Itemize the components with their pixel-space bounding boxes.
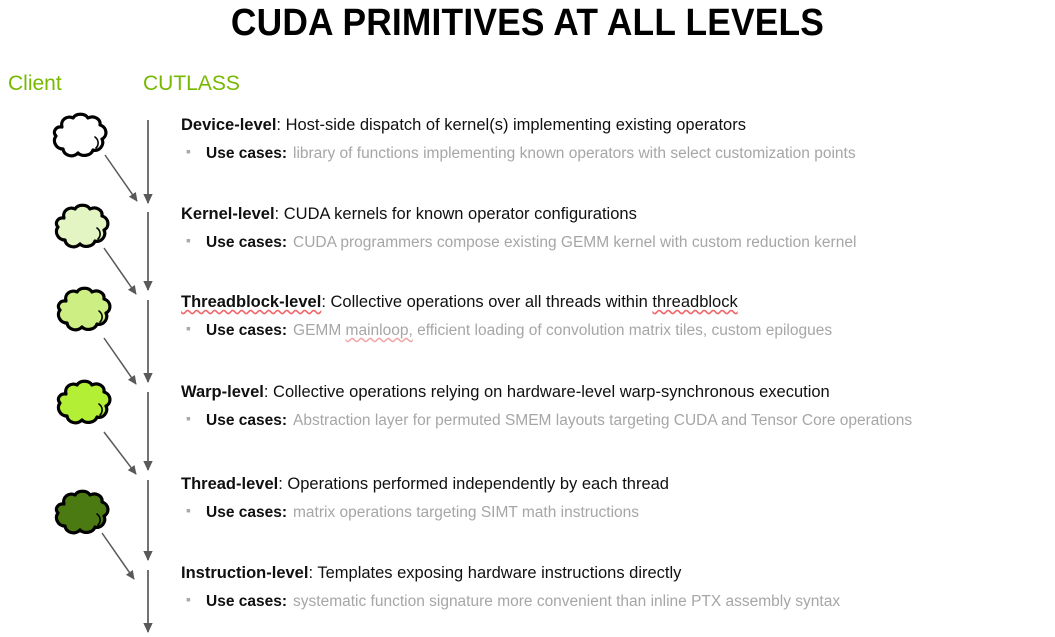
usecase-text: matrix operations targeting SIMT math in… [293,504,639,522]
usecase-row: ▪ Use cases: library of functions implem… [181,145,1047,163]
cloud-warp-level [52,379,114,427]
bullet-icon: ▪ [186,503,206,517]
level-name: Warp-level [181,383,264,401]
usecase-row: ▪ Use cases: CUDA programmers compose ex… [181,234,1047,252]
level-heading: Threadblock-level: Collective operations… [181,293,1047,313]
level-description: Collective operations over all threads w… [331,293,738,311]
level-heading: Kernel-level: CUDA kernels for known ope… [181,205,1047,225]
level-block-warp: Warp-level: Collective operations relyin… [181,383,1047,430]
bullet-icon: ▪ [186,233,206,247]
level-description: CUDA kernels for known operator configur… [284,205,637,223]
diagonal-arrow-5 [102,533,134,579]
diagonal-arrow-1 [105,155,137,201]
cloud-kernel-level [50,203,112,251]
usecase-text: library of functions implementing known … [293,145,856,163]
usecase-row: ▪ Use cases: GEMM mainloop, efficient lo… [181,322,1047,340]
diagonal-arrow-3 [104,338,136,384]
bullet-icon: ▪ [186,592,206,606]
usecase-row: ▪ Use cases: systematic function signatu… [181,593,1047,611]
cloud-device-level [48,112,110,160]
usecase-label: Use cases: [206,504,293,522]
level-separator: : [278,475,283,493]
level-description: Templates exposing hardware instructions… [317,564,681,582]
level-name: Instruction-level [181,564,308,582]
level-heading: Thread-level: Operations performed indep… [181,475,1047,495]
page-title: CUDA PRIMITIVES AT ALL LEVELS [37,2,1018,45]
level-block-instruction: Instruction-level: Templates exposing ha… [181,564,1047,611]
level-description: Host-side dispatch of kernel(s) implemen… [286,116,746,134]
level-separator: : [264,383,269,401]
usecase-label: Use cases: [206,412,293,430]
usecase-text: systematic function signature more conve… [293,593,840,611]
level-block-threadblock: Threadblock-level: Collective operations… [181,293,1047,340]
level-separator: : [276,116,281,134]
level-name: Threadblock-level [181,293,321,311]
level-description: Collective operations relying on hardwar… [273,383,830,401]
level-heading: Warp-level: Collective operations relyin… [181,383,1047,403]
bullet-icon: ▪ [186,144,206,158]
usecase-label: Use cases: [206,234,293,252]
usecase-row: ▪ Use cases: Abstraction layer for permu… [181,412,1047,430]
level-name: Thread-level [181,475,278,493]
usecase-label: Use cases: [206,593,293,611]
cloud-threadblock-level [52,286,114,334]
level-name: Kernel-level [181,205,275,223]
level-heading: Instruction-level: Templates exposing ha… [181,564,1047,584]
usecase-label: Use cases: [206,322,293,340]
column-header-cutlass: CUTLASS [143,72,240,96]
level-block-kernel: Kernel-level: CUDA kernels for known ope… [181,205,1047,252]
level-separator: : [275,205,280,223]
bullet-icon: ▪ [186,321,206,335]
slide-canvas: CUDA PRIMITIVES AT ALL LEVELS Client CUT… [0,0,1055,637]
usecase-text: GEMM mainloop, efficient loading of conv… [293,322,832,340]
level-block-thread: Thread-level: Operations performed indep… [181,475,1047,522]
usecase-text: Abstraction layer for permuted SMEM layo… [293,412,912,430]
cloud-thread-level [50,489,112,537]
usecase-text: CUDA programmers compose existing GEMM k… [293,234,856,252]
bullet-icon: ▪ [186,411,206,425]
column-header-client: Client [8,72,62,96]
level-name: Device-level [181,116,276,134]
level-block-device: Device-level: Host-side dispatch of kern… [181,116,1047,163]
level-heading: Device-level: Host-side dispatch of kern… [181,116,1047,136]
level-separator: : [308,564,313,582]
diagonal-arrow-4 [104,432,136,474]
usecase-label: Use cases: [206,145,293,163]
usecase-row: ▪ Use cases: matrix operations targeting… [181,504,1047,522]
level-description: Operations performed independently by ea… [287,475,669,493]
level-separator: : [321,293,326,311]
